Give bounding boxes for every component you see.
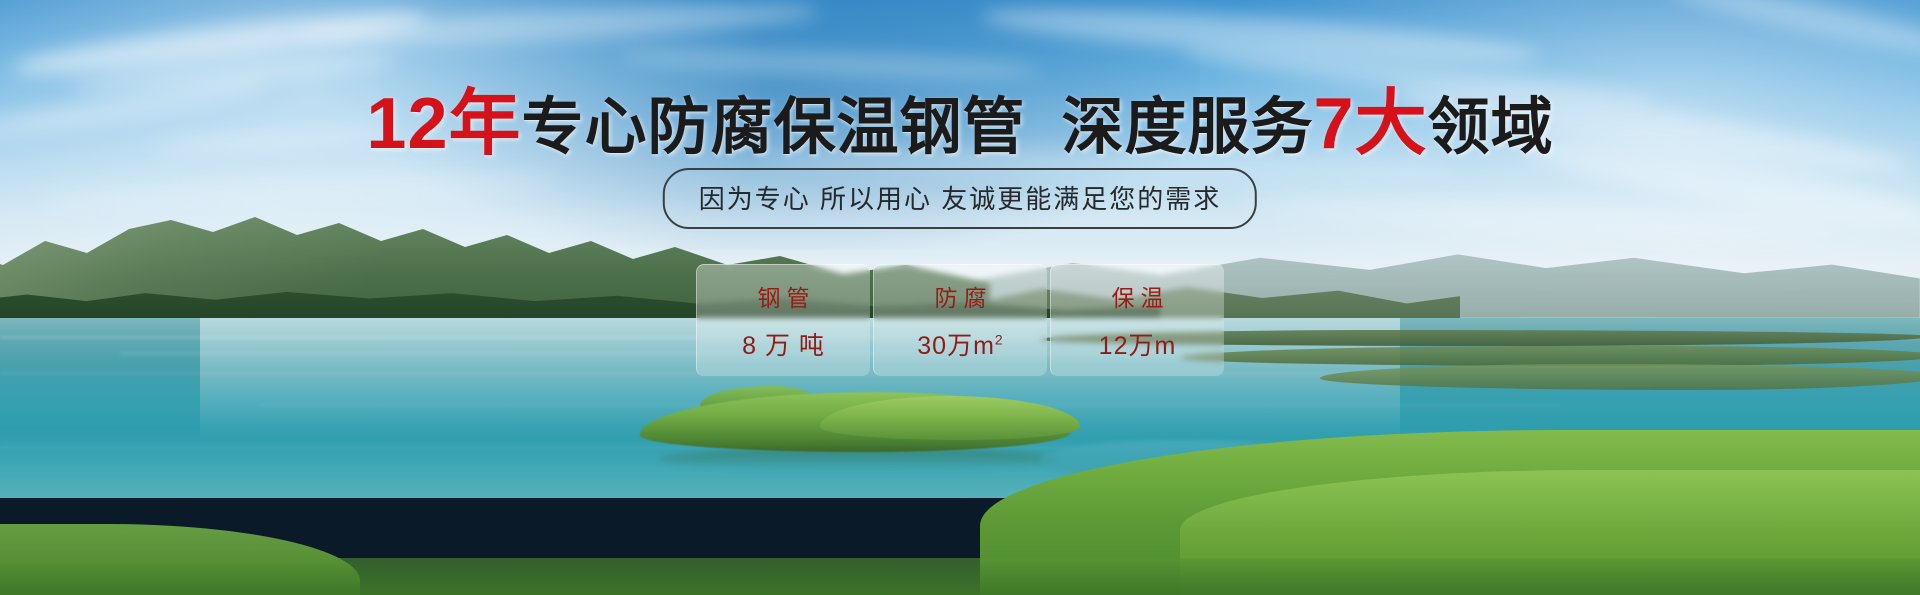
promo-banner: 12年专心防腐保温钢管深度服务7大领域 因为专心 所以用心 友诚更能满足您的需求… xyxy=(0,0,1920,595)
stat-card-insulation: 保温 12万m xyxy=(1050,264,1224,376)
stat-card-value-sup: 2 xyxy=(995,332,1004,348)
stat-card-title: 保温 xyxy=(1106,279,1170,313)
headline-sectors-word: 领域 xyxy=(1428,93,1554,162)
stat-card-value: 30万m2 xyxy=(917,326,1003,362)
headline: 12年专心防腐保温钢管深度服务7大领域 xyxy=(0,88,1920,160)
subtitle-pill: 因为专心 所以用心 友诚更能满足您的需求 xyxy=(663,168,1257,229)
stat-card-steel-pipe: 钢管 8 万 吨 xyxy=(696,264,870,376)
stat-card-anticorrosion: 防腐 30万m2 xyxy=(873,264,1047,376)
stat-card-value: 12万m xyxy=(1099,326,1177,362)
stat-card-title: 防腐 xyxy=(929,279,993,313)
headline-main: 专心防腐保温钢管 xyxy=(522,93,1026,162)
stat-card-title: 钢管 xyxy=(752,279,816,313)
headline-service: 深度服务 xyxy=(1062,93,1314,162)
stat-card-value-main: 30万m xyxy=(917,332,995,360)
headline-sectors-count: 7大 xyxy=(1314,84,1428,164)
stat-card-group: 钢管 8 万 吨 防腐 30万m2 保温 12万m xyxy=(696,264,1224,376)
stat-card-value: 8 万 吨 xyxy=(742,326,825,362)
headline-years: 12年 xyxy=(366,84,521,164)
banner-content: 12年专心防腐保温钢管深度服务7大领域 因为专心 所以用心 友诚更能满足您的需求… xyxy=(0,0,1920,595)
